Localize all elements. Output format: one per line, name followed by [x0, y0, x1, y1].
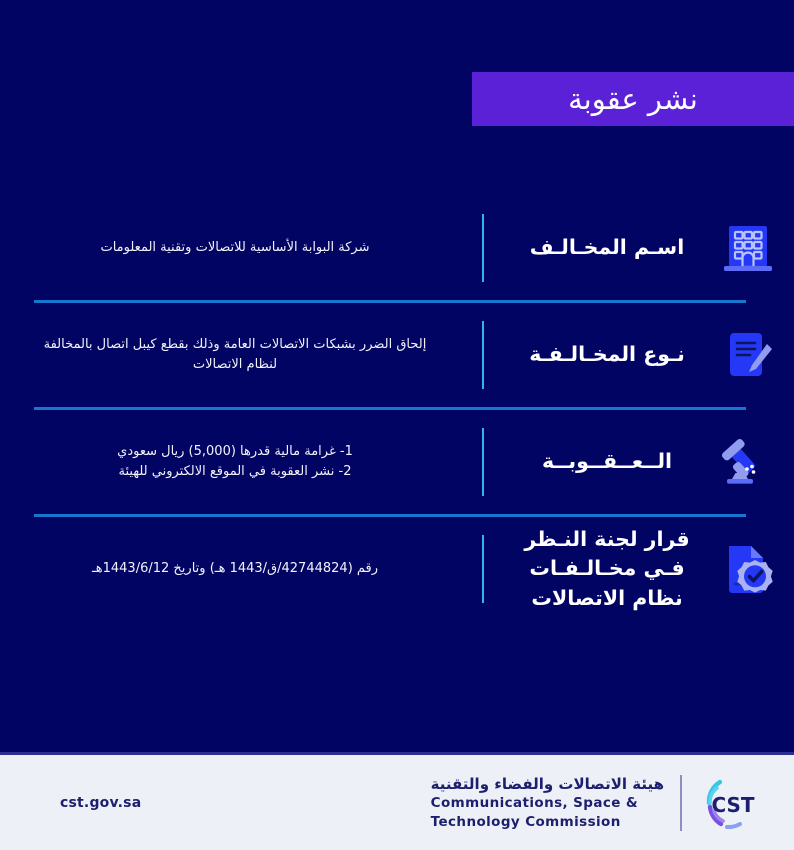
document-check-gear-icon [702, 540, 794, 598]
label-line: قرار لجنة النـظر [524, 527, 689, 551]
building-icon [702, 220, 794, 276]
value-line: 1- غرامة مالية قدرها (5,000) ريال سعودي [26, 442, 444, 462]
row-value-violation-type: إلحاق الضرر بشبكات الاتصالات العامة وذلك… [0, 335, 472, 375]
label-line: فـي مخـالـفـات [529, 556, 684, 580]
label-line: نظام الاتصالات [531, 586, 682, 610]
table-row-committee-decision: قرار لجنة النـظر فـي مخـالـفـات نظام الا… [0, 517, 794, 621]
page-title: نشر عقوبة [568, 85, 698, 114]
footer-bar: CST هيئة الاتصالات والفضاء والتقنية Comm… [0, 752, 794, 850]
row-vertical-divider [482, 214, 484, 282]
organization-name-en-line1: Communications, Space & [431, 794, 664, 812]
table-row-violation-type: نـوع المخـالـفـة إلحاق الضرر بشبكات الات… [0, 303, 794, 407]
value-line: شركة البوابة الأساسية للاتصالات وتقنية ا… [26, 238, 444, 258]
row-vertical-divider [482, 321, 484, 389]
value-line: لنظام الاتصالات [26, 355, 444, 375]
header-banner: نشر عقوبة [472, 72, 794, 126]
organization-name-en-line2: Technology Commission [431, 813, 664, 831]
value-line: رقم (42744824/ق/1443 هـ) وتاريخ 1443/6/1… [26, 559, 444, 579]
table-row-violator-name: اسـم المخـالـف شركة البوابة الأساسية للا… [0, 196, 794, 300]
row-label-violator-name: اسـم المخـالـف [506, 233, 702, 262]
organization-name-ar: هيئة الاتصالات والفضاء والتقنية [431, 774, 664, 794]
row-label-committee-decision: قرار لجنة النـظر فـي مخـالـفـات نظام الا… [506, 525, 702, 612]
row-value-violator-name: شركة البوابة الأساسية للاتصالات وتقنية ا… [0, 238, 472, 258]
row-vertical-divider [482, 535, 484, 603]
cst-logo: CST هيئة الاتصالات والفضاء والتقنية Comm… [431, 772, 762, 834]
row-label-penalty: الــعــقــوبــة [506, 447, 702, 476]
row-value-committee-decision: رقم (42744824/ق/1443 هـ) وتاريخ 1443/6/1… [0, 559, 472, 579]
website-url[interactable]: cst.gov.sa [60, 795, 141, 811]
document-pen-icon [702, 327, 794, 383]
row-vertical-divider [482, 428, 484, 496]
cst-logo-mark: CST [700, 772, 762, 834]
logo-divider [680, 775, 682, 831]
sanction-publication-poster: نشر عقوبة [0, 0, 794, 850]
row-label-violation-type: نـوع المخـالـفـة [506, 340, 702, 369]
row-value-penalty: 1- غرامة مالية قدرها (5,000) ريال سعودي … [0, 442, 472, 482]
details-table: اسـم المخـالـف شركة البوابة الأساسية للا… [0, 196, 794, 621]
table-row-penalty: الــعــقــوبــة 1- غرامة مالية قدرها (5,… [0, 410, 794, 514]
cst-logo-text: CST [711, 793, 754, 817]
value-line: 2- نشر العقوبة في الموقع الالكتروني للهي… [26, 462, 444, 482]
value-line: إلحاق الضرر بشبكات الاتصالات العامة وذلك… [26, 335, 444, 355]
gavel-icon [702, 434, 794, 490]
organization-names: هيئة الاتصالات والفضاء والتقنية Communic… [431, 774, 664, 831]
